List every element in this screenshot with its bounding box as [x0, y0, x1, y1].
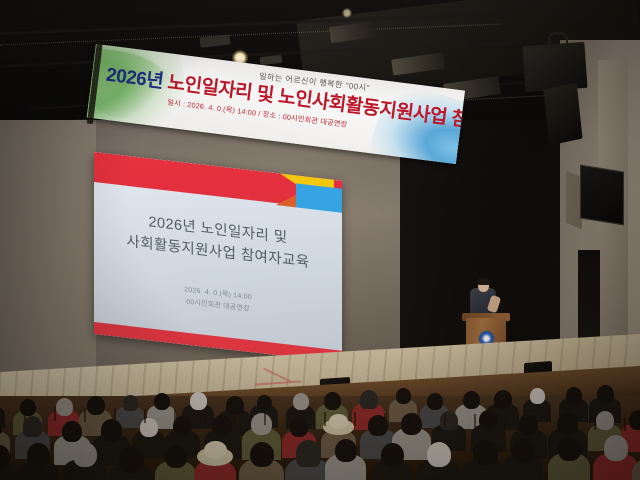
audience-head — [557, 413, 578, 435]
audience-head — [401, 413, 422, 435]
projection-screen: 2026년 노인일자리 및 사회활동지원사업 참여자교육 2026. 4. 0.… — [94, 152, 342, 363]
seat-divider — [414, 413, 416, 427]
audience-head — [427, 393, 443, 410]
audience-head — [296, 440, 321, 467]
seat-divider — [564, 416, 566, 430]
audience-head — [440, 411, 458, 430]
audience-head — [479, 410, 498, 430]
presenter-hair — [477, 278, 490, 285]
audience-head — [20, 399, 36, 416]
audience-head — [597, 385, 614, 403]
audience-head — [101, 419, 122, 441]
audience-head — [250, 442, 274, 467]
seat-divider — [264, 411, 266, 425]
line-array-speaker-top — [522, 42, 587, 92]
audience-head — [87, 396, 105, 415]
audience-head — [473, 440, 498, 467]
audience-head — [463, 391, 480, 409]
seat-divider — [24, 407, 26, 421]
ceiling-lamp-4 — [342, 8, 352, 18]
audience-head — [27, 443, 50, 467]
slide-blue-block — [296, 183, 342, 212]
audience-head — [530, 388, 545, 404]
seat-divider — [294, 411, 296, 425]
seat-divider — [114, 408, 116, 422]
wall-mounted-speaker — [580, 165, 624, 226]
audience-head — [190, 392, 207, 410]
seat-divider — [474, 414, 476, 428]
seat-divider — [624, 417, 626, 431]
stage-left-wall — [0, 120, 96, 385]
line-array-speaker-body — [543, 82, 582, 145]
audience-head — [293, 393, 309, 410]
audience-head — [73, 442, 97, 467]
seat-divider — [54, 407, 56, 421]
audience-head — [324, 392, 341, 410]
seat-divider — [504, 415, 506, 429]
seat-divider — [234, 410, 236, 424]
audience-head — [604, 435, 628, 460]
slide-orange-triangle — [276, 191, 298, 208]
seat-divider — [84, 408, 86, 422]
seat-divider — [534, 415, 536, 429]
audience-head — [140, 418, 158, 437]
seat-divider — [354, 412, 356, 426]
audience-head — [629, 410, 640, 430]
audience-head — [381, 443, 404, 467]
audience-head — [290, 418, 308, 437]
audience-head — [251, 413, 272, 435]
audience-head — [512, 438, 534, 461]
audience-head — [154, 393, 170, 410]
audience-hat-crown — [329, 414, 348, 429]
audience-head — [165, 445, 187, 468]
audience-hat-crown — [204, 441, 227, 459]
seat-divider — [594, 416, 596, 430]
audience-head — [396, 388, 411, 404]
seat-divider — [174, 409, 176, 423]
audience-head — [566, 387, 582, 404]
auditorium-photo: 일하는 어르신이 행복한 "00시" 2026년 노인일자리 및 노인사회활동지… — [0, 0, 640, 480]
seat-divider — [204, 410, 206, 424]
audience-head — [596, 411, 614, 430]
audience-head — [360, 390, 378, 409]
audience-head — [119, 446, 144, 473]
audience-head — [212, 415, 232, 436]
audience-head — [257, 395, 272, 411]
audience-head — [123, 395, 138, 411]
seat-divider — [324, 412, 326, 426]
audience-head — [558, 437, 581, 461]
audience-head — [62, 421, 82, 442]
audience-head — [427, 442, 451, 467]
audience-head — [335, 439, 357, 462]
seat-divider — [384, 413, 386, 427]
audience-head — [56, 398, 73, 416]
audience-head — [494, 390, 512, 409]
seat-divider — [444, 414, 446, 428]
seat-divider — [144, 409, 146, 423]
